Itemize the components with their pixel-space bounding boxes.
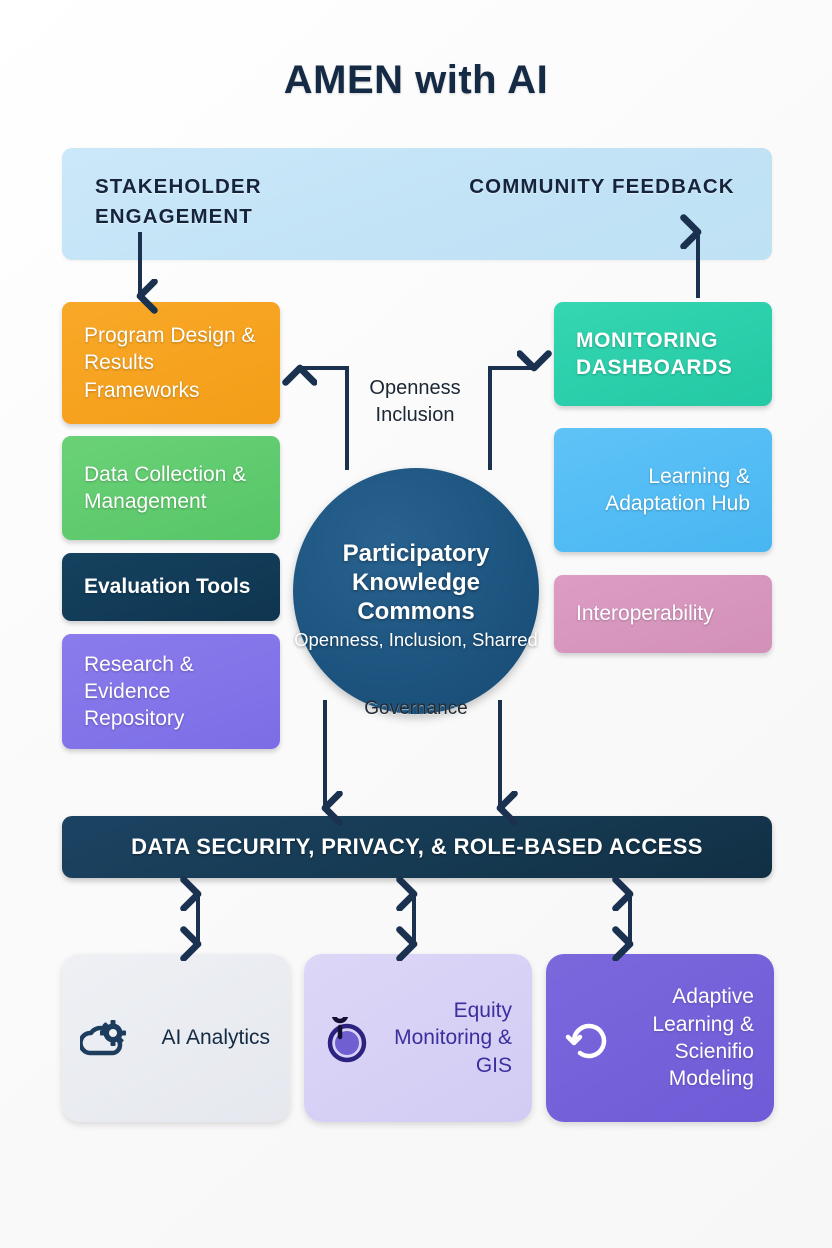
box-data-collection-management[interactable]: Data Collection & Management [62,436,280,540]
page-title: AMEN with AI [0,58,832,103]
center-side-labels: Openness Inclusion [340,375,490,429]
box-program-design-results-frameworks[interactable]: Program Design & Results Frameworks [62,302,280,424]
center-node-title: Participatory Knowledge Commons [326,539,506,627]
security-bar[interactable]: DATA SECURITY, PRIVACY, & ROLE-BASED ACC… [62,816,772,878]
arrow-commons-to-right-column [490,368,534,470]
center-node-caption: Governance [293,698,539,720]
diagram-canvas: AMEN with AI STAKEHOLDER ENGAGEMENT COMM… [0,0,832,1248]
top-banner: STAKEHOLDER ENGAGEMENT COMMUNITY FEEDBAC… [62,148,772,260]
banner-label-stakeholder-engagement: STAKEHOLDER ENGAGEMENT [95,172,345,231]
box-monitoring-dashboards[interactable]: MONITORING DASHBOARDS [554,302,772,406]
box-evaluation-tools[interactable]: Evaluation Tools [62,553,280,621]
box-interoperability[interactable]: Interoperability [554,575,772,653]
card-label-adaptive-learning: Adaptive Learning & Scienifio Modeling [618,983,758,1092]
box-learning-adaptation-hub[interactable]: Learning & Adaptation Hub [554,428,772,552]
card-ai-analytics[interactable]: AI Analytics [62,954,290,1122]
center-node-participatory-knowledge-commons[interactable]: Participatory Knowledge Commons Openness… [293,468,539,714]
location-circle-icon [320,1011,376,1065]
box-research-evidence-repository[interactable]: Research & Evidence Repository [62,634,280,749]
refresh-circle-icon [562,1010,618,1066]
card-adaptive-learning-scenario-modeling[interactable]: Adaptive Learning & Scienifio Modeling [546,954,774,1122]
banner-label-community-feedback: COMMUNITY FEEDBACK [442,172,762,202]
cloud-gear-icon [78,1013,134,1063]
center-node-subtitle: Openness, Inclusion, Sharred [294,628,538,651]
card-equity-monitoring-gis[interactable]: Equity Monitoring & GIS [304,954,532,1122]
card-label-ai-analytics: AI Analytics [134,1024,274,1051]
card-label-equity-monitoring-gis: Equity Monitoring & GIS [376,997,516,1079]
